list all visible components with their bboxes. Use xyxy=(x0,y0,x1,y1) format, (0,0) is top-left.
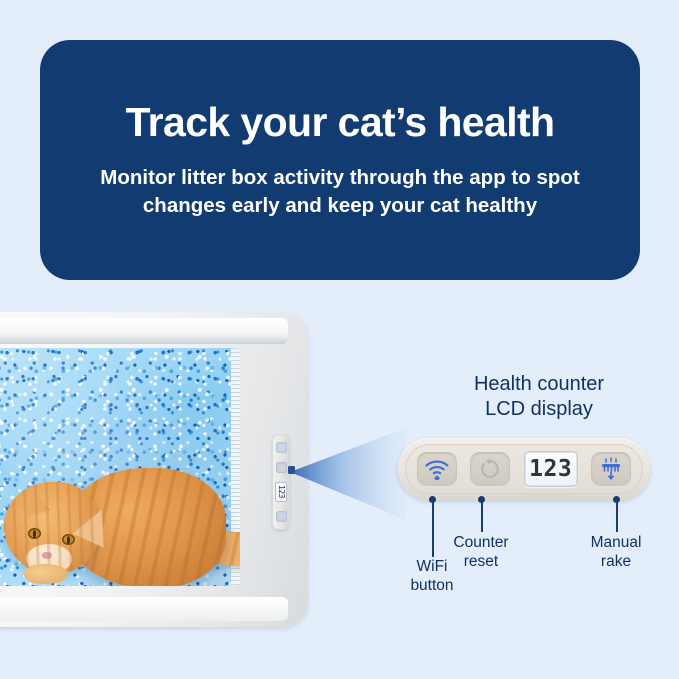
lcd-value-mini: 123 xyxy=(277,485,286,498)
wifi-button[interactable] xyxy=(417,452,457,486)
product-photo xyxy=(0,312,308,627)
label-counter-reset: Counter reset xyxy=(441,534,521,572)
leader-line-wifi xyxy=(432,500,434,557)
page-subtitle: Monitor litter box activity through the … xyxy=(80,164,600,218)
cat-head xyxy=(4,482,100,574)
cat-eye-right xyxy=(62,534,75,545)
control-strip: 123 xyxy=(398,438,650,500)
callout-title-line1: Health counter xyxy=(434,372,644,397)
cat-illustration xyxy=(0,460,240,586)
wifi-icon-mini[interactable] xyxy=(276,442,287,453)
manual-rake-icon-mini[interactable] xyxy=(276,511,287,522)
cat-nose xyxy=(42,552,52,559)
page-title: Track your cat’s health xyxy=(125,101,554,144)
label-rake-line1: Manual xyxy=(576,534,656,553)
cat-eye-left xyxy=(28,528,41,539)
wifi-icon xyxy=(424,458,450,480)
label-counter-line2: reset xyxy=(441,553,521,572)
control-strip-inner: 123 xyxy=(405,444,643,494)
lcd-value: 123 xyxy=(529,456,572,482)
callout-title: Health counter LCD display xyxy=(434,372,644,422)
cat-ear-left xyxy=(19,485,51,517)
manual-rake-button[interactable] xyxy=(591,452,631,486)
rake-down-arrow-icon xyxy=(598,457,624,481)
lcd-display-mini: 123 xyxy=(275,482,287,502)
label-rake-line2: rake xyxy=(576,553,656,572)
label-counter-line1: Counter xyxy=(441,534,521,553)
leader-line-manual-rake xyxy=(616,500,618,532)
zoom-cone xyxy=(288,420,408,530)
counter-reset-button[interactable] xyxy=(470,452,510,486)
lcd-display: 123 xyxy=(524,451,578,487)
label-wifi-line2: button xyxy=(392,577,472,596)
litter-box-rim-bottom xyxy=(0,597,288,621)
leader-line-counter-reset xyxy=(481,500,483,532)
litter-basin xyxy=(0,348,240,586)
label-manual-rake: Manual rake xyxy=(576,534,656,572)
headline-card: Track your cat’s health Monitor litter b… xyxy=(40,40,640,280)
cat-paw xyxy=(24,564,68,584)
promo-graphic: Track your cat’s health Monitor litter b… xyxy=(0,0,679,679)
callout-title-line2: LCD display xyxy=(434,397,644,422)
litter-box-rim-top xyxy=(0,318,288,344)
reset-circular-arrow-icon xyxy=(478,457,502,481)
counter-reset-icon-mini[interactable] xyxy=(276,462,287,473)
